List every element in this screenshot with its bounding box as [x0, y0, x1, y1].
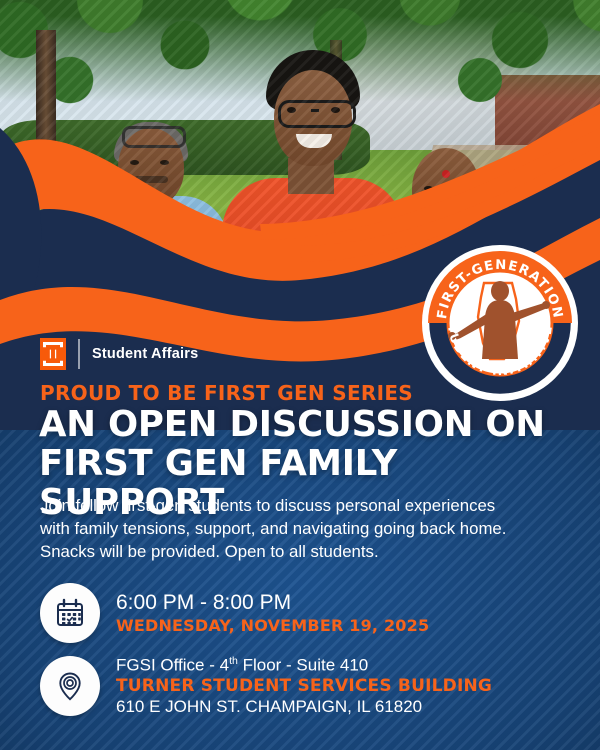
brand-lockup: Student Affairs [40, 338, 198, 370]
description-line-3: Snacks will be provided. Open to all stu… [40, 540, 570, 563]
calendar-icon [40, 583, 100, 643]
event-time-block: 6:00 PM - 8:00 PM WEDNESDAY, NOVEMBER 19… [40, 583, 429, 643]
event-location-block: FGSI Office - 4th Floor - Suite 410 TURN… [40, 655, 492, 717]
map-pin-icon [40, 656, 100, 716]
location-office-ordinal: th [229, 655, 238, 667]
series-eyebrow: PROUD TO BE FIRST GEN SERIES [40, 381, 413, 405]
location-office-post: Floor - Suite 410 [238, 656, 368, 675]
event-time: 6:00 PM - 8:00 PM [116, 591, 429, 616]
headline-line-1: AN OPEN DISCUSSION ON [39, 405, 569, 444]
description-text: Join fellow first-gen students to discus… [40, 494, 570, 564]
description-line-1: Join fellow first-gen students to discus… [40, 494, 570, 517]
location-office: FGSI Office - 4th Floor - Suite 410 [116, 655, 492, 676]
illinois-block-i-icon [40, 338, 66, 370]
location-venue: TURNER STUDENT SERVICES BUILDING [116, 676, 492, 697]
description-line-2: with family tensions, support, and navig… [40, 517, 570, 540]
event-flyer: ILLINOIS [0, 0, 600, 750]
location-office-pre: FGSI Office - 4 [116, 656, 229, 675]
location-address: 610 E JOHN ST. CHAMPAIGN, IL 61820 [116, 697, 492, 717]
brand-unit-label: Student Affairs [92, 346, 198, 362]
brand-divider [78, 339, 80, 369]
event-date: WEDNESDAY, NOVEMBER 19, 2025 [116, 616, 429, 636]
